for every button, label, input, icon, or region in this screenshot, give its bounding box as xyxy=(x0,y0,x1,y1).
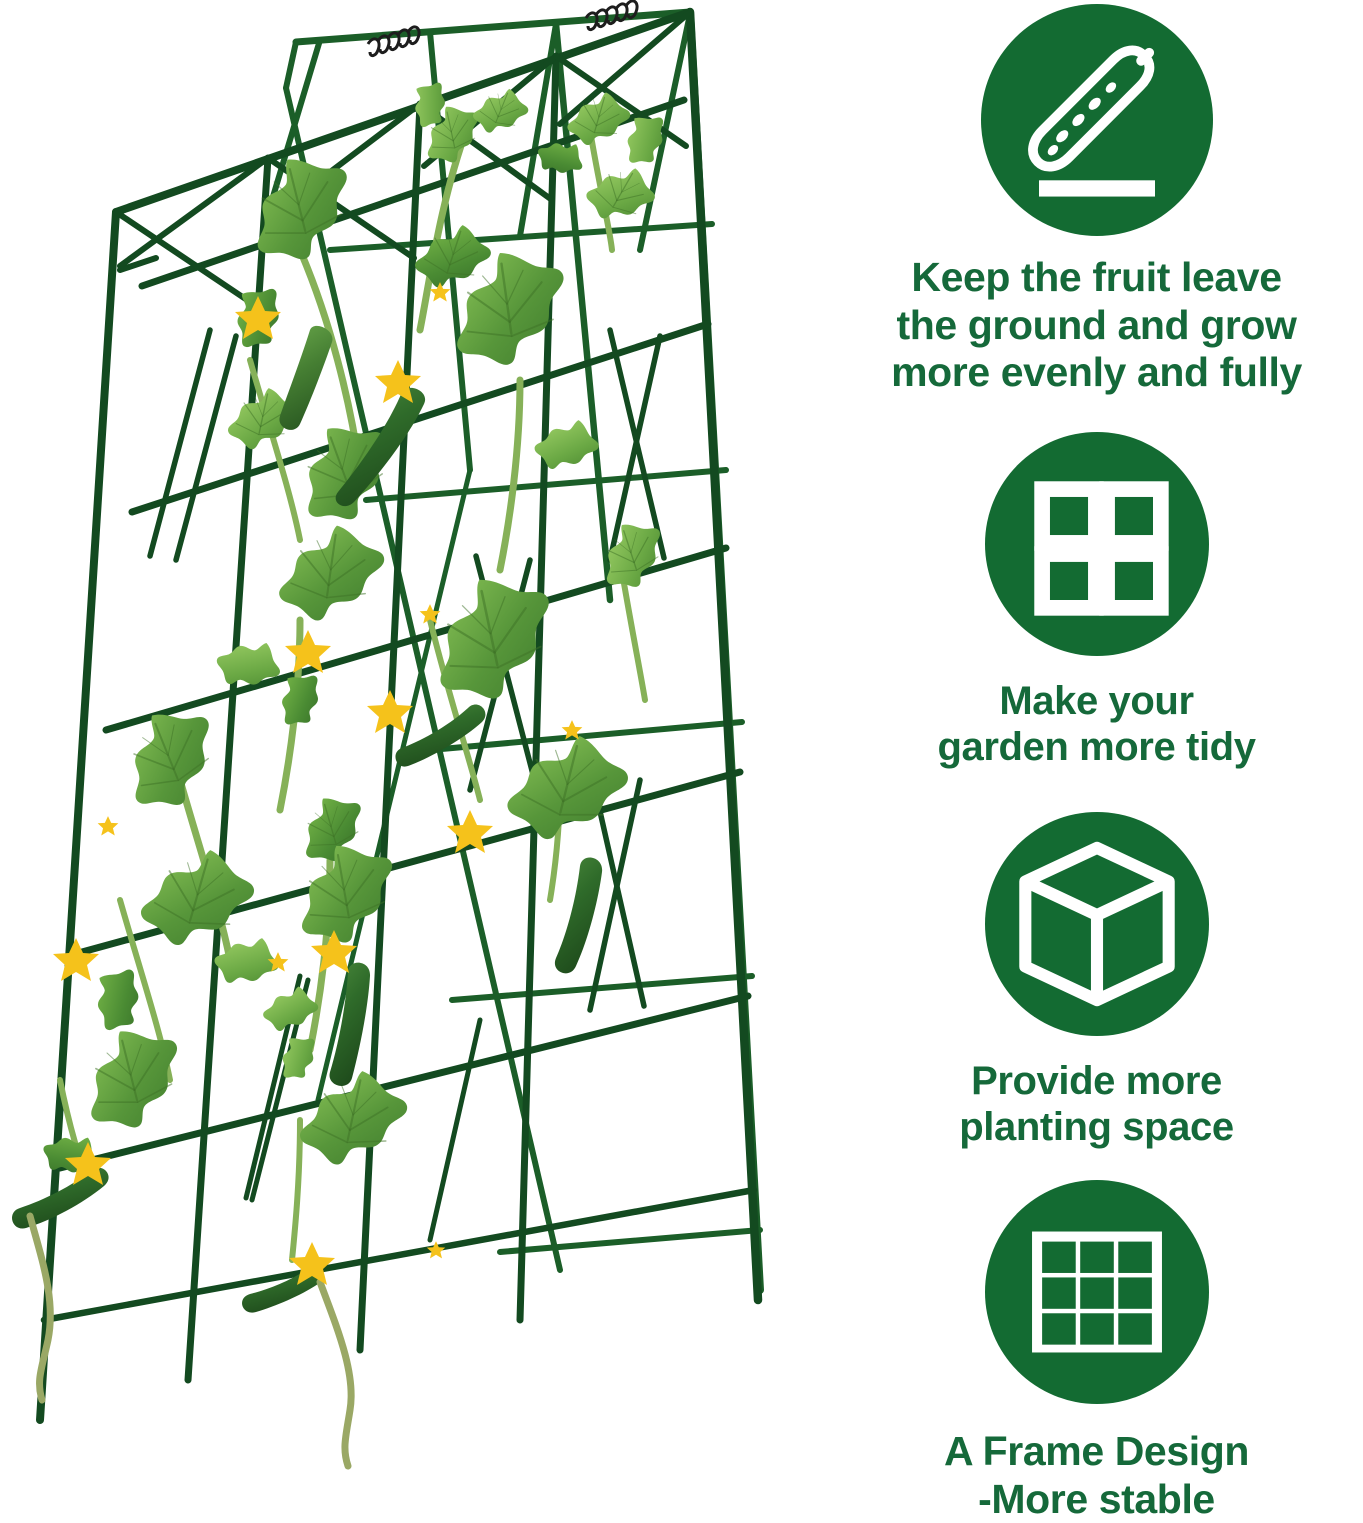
lattice-grid-icon xyxy=(985,1180,1209,1404)
four-squares-grid-icon xyxy=(985,432,1209,656)
feature-item: Make your garden more tidy xyxy=(830,432,1363,771)
feature-badge xyxy=(981,4,1213,236)
trellis-illustration xyxy=(0,0,830,1500)
feature-label: A Frame Design -More stable xyxy=(830,1428,1363,1523)
feature-badge xyxy=(985,812,1209,1036)
cucumber-above-ground-icon xyxy=(981,4,1213,236)
feature-badge xyxy=(985,1180,1209,1404)
feature-badge xyxy=(985,432,1209,656)
ground-line xyxy=(1039,180,1155,196)
feature-label: Keep the fruit leave the ground and grow… xyxy=(830,254,1363,397)
feature-list: Keep the fruit leave the ground and grow… xyxy=(830,0,1363,1500)
feature-item: Keep the fruit leave the ground and grow… xyxy=(830,4,1363,397)
feature-label: Provide more planting space xyxy=(830,1058,1363,1151)
product-infographic: Keep the fruit leave the ground and grow… xyxy=(0,0,1363,1500)
cube-icon xyxy=(985,812,1209,1036)
feature-item: Provide more planting space xyxy=(830,812,1363,1151)
product-image xyxy=(0,0,830,1500)
feature-label: Make your garden more tidy xyxy=(830,678,1363,771)
feature-item: A Frame Design -More stable xyxy=(830,1180,1363,1523)
